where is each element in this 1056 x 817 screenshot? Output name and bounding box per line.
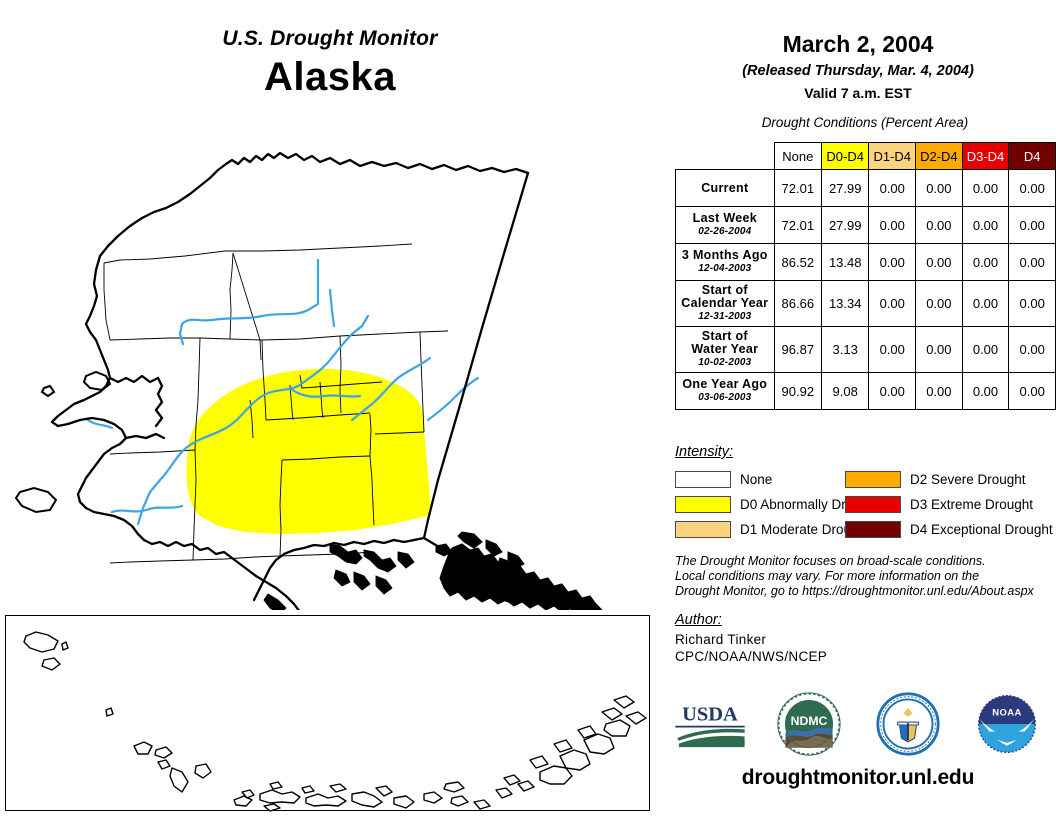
row-label-date: 12-31-2003 — [678, 310, 772, 323]
table-row: Start ofWater Year10-02-200396.873.130.0… — [676, 327, 1056, 373]
table-cell: 0.00 — [869, 170, 916, 207]
aleutian-map-svg — [6, 616, 651, 812]
table-cell: 0.00 — [869, 244, 916, 281]
table-cell: 0.00 — [916, 373, 963, 410]
table-caption: Drought Conditions (Percent Area) — [674, 115, 1056, 130]
disclaimer-line-2: Local conditions may vary. For more info… — [675, 569, 1055, 584]
row-label-date: 12-04-2003 — [678, 262, 772, 275]
ndmc-logo-svg: NDMC — [776, 691, 842, 757]
table-cell: 0.00 — [962, 281, 1009, 327]
row-label-date: 10-02-2003 — [678, 356, 772, 369]
noaa-logo: NOAA — [967, 688, 1047, 760]
row-label-text: Current — [678, 182, 772, 195]
table-row: One Year Ago03-06-200390.929.080.000.000… — [676, 373, 1056, 410]
disclaimer-line-3: Drought Monitor, go to https://droughtmo… — [675, 584, 1055, 599]
row-label-text: Water Year — [678, 343, 772, 356]
legend-item: D3 Extreme Drought — [845, 492, 1053, 517]
map-panel: U.S. Drought Monitor Alaska — [0, 0, 660, 816]
table-cell: 0.00 — [1009, 373, 1056, 410]
usda-logo-svg: USDA — [670, 697, 750, 751]
table-col-header-d2-d4: D2-D4 — [916, 143, 963, 170]
table-row: Start ofCalendar Year12-31-200386.6613.3… — [676, 281, 1056, 327]
alexander-archipelago — [436, 532, 602, 610]
row-label: One Year Ago03-06-2003 — [676, 373, 775, 410]
southern-islands — [130, 544, 414, 610]
drought-area-d0 — [186, 369, 431, 534]
table-cell: 0.00 — [962, 207, 1009, 244]
table-cell: 86.52 — [774, 244, 821, 281]
inset-map-svg-wrap — [6, 616, 649, 810]
intensity-heading: Intensity: — [675, 444, 1050, 460]
legend-swatch — [675, 471, 731, 488]
row-label: Current — [676, 170, 775, 207]
valid-time: Valid 7 a.m. EST — [660, 83, 1056, 103]
map-title-block: U.S. Drought Monitor Alaska — [0, 26, 660, 100]
table-body: Current72.0127.990.000.000.000.00Last We… — [676, 170, 1056, 410]
table-cell: 72.01 — [774, 207, 821, 244]
table-col-header-d4: D4 — [1009, 143, 1056, 170]
site-url[interactable]: droughtmonitor.unl.edu — [660, 766, 1056, 790]
table-row: 3 Months Ago12-04-200386.5213.480.000.00… — [676, 244, 1056, 281]
disclaimer-text: The Drought Monitor focuses on broad-sca… — [675, 554, 1055, 599]
table-row: Last Week02-26-200472.0127.990.000.000.0… — [676, 207, 1056, 244]
release-date: (Released Thursday, Mar. 4, 2004) — [660, 61, 1056, 81]
table-cell: 0.00 — [869, 327, 916, 373]
table-cell: 0.00 — [916, 207, 963, 244]
legend-swatch — [845, 521, 901, 538]
svg-text:NDMC: NDMC — [790, 714, 827, 728]
table-cell: 3.13 — [822, 327, 869, 373]
disclaimer-line-1: The Drought Monitor focuses on broad-sca… — [675, 554, 1055, 569]
intensity-legend-grid: NoneD2 Severe DroughtD0 Abnormally DryD3… — [675, 467, 1050, 542]
row-label-text: One Year Ago — [678, 378, 772, 391]
svg-text:NOAA: NOAA — [992, 707, 1022, 718]
legend-swatch — [675, 496, 731, 513]
usdc-seal-logo — [868, 688, 948, 760]
legend-swatch — [845, 496, 901, 513]
table-cell: 0.00 — [916, 244, 963, 281]
row-label: Start ofCalendar Year12-31-2003 — [676, 281, 775, 327]
table-row: Current72.0127.990.000.000.000.00 — [676, 170, 1056, 207]
author-heading: Author: — [675, 612, 827, 628]
table-col-header-d1-d4: D1-D4 — [869, 143, 916, 170]
ndmc-logo: NDMC — [769, 688, 849, 760]
table-cell: 0.00 — [1009, 244, 1056, 281]
row-label-text: 3 Months Ago — [678, 249, 772, 262]
table-cell: 0.00 — [962, 170, 1009, 207]
table-cell: 0.00 — [962, 327, 1009, 373]
author-block: Author: Richard Tinker CPC/NOAA/NWS/NCEP — [675, 612, 827, 665]
row-label: Start ofWater Year10-02-2003 — [676, 327, 775, 373]
table-cell: 0.00 — [869, 281, 916, 327]
partner-logos: USDA NDMC — [660, 688, 1056, 760]
table-cell: 72.01 — [774, 170, 821, 207]
usdc-seal-svg — [875, 691, 941, 757]
table-cell: 0.00 — [916, 170, 963, 207]
legend-item: D1 Moderate Drought — [675, 517, 845, 542]
info-panel: March 2, 2004 (Released Thursday, Mar. 4… — [660, 0, 1056, 816]
row-label: Last Week02-26-2004 — [676, 207, 775, 244]
legend-item: None — [675, 467, 845, 492]
table-col-header-none: None — [774, 143, 821, 170]
legend-label: None — [740, 472, 772, 487]
legend-label: D2 Severe Drought — [910, 472, 1026, 487]
table-cell: 0.00 — [1009, 327, 1056, 373]
region-title: Alaska — [0, 54, 660, 100]
intensity-legend: Intensity: NoneD2 Severe DroughtD0 Abnor… — [675, 444, 1050, 542]
legend-item: D0 Abnormally Dry — [675, 492, 845, 517]
table-col-header-d3-d4: D3-D4 — [962, 143, 1009, 170]
table-cell: 0.00 — [1009, 170, 1056, 207]
row-label-text: Last Week — [678, 212, 772, 225]
legend-label: D0 Abnormally Dry — [740, 497, 853, 512]
table-cell: 0.00 — [962, 244, 1009, 281]
headline-date: March 2, 2004 — [660, 30, 1056, 58]
table-header-row: NoneD0-D4D1-D4D2-D4D3-D4D4 — [676, 143, 1056, 170]
row-label-date: 03-06-2003 — [678, 391, 772, 404]
author-name: Richard Tinker — [675, 631, 827, 648]
row-label: 3 Months Ago12-04-2003 — [676, 244, 775, 281]
table-cell: 9.08 — [822, 373, 869, 410]
table-cell: 27.99 — [822, 170, 869, 207]
page-title: U.S. Drought Monitor — [0, 26, 660, 52]
noaa-logo-svg: NOAA — [974, 691, 1040, 757]
legend-swatch — [845, 471, 901, 488]
row-label-text: Calendar Year — [678, 297, 772, 310]
legend-label: D4 Exceptional Drought — [910, 522, 1053, 537]
table-cell: 0.00 — [869, 373, 916, 410]
legend-item: D4 Exceptional Drought — [845, 517, 1053, 542]
table-cell: 0.00 — [869, 207, 916, 244]
table-cell: 0.00 — [916, 327, 963, 373]
table-col-header-d0-d4: D0-D4 — [822, 143, 869, 170]
row-label-date: 02-26-2004 — [678, 225, 772, 238]
drought-conditions-table: NoneD0-D4D1-D4D2-D4D3-D4D4 Current72.012… — [675, 142, 1056, 410]
legend-swatch — [675, 521, 731, 538]
alaska-main-map[interactable] — [0, 120, 660, 610]
table-cell: 96.87 — [774, 327, 821, 373]
alaska-map-svg — [0, 120, 660, 610]
usda-logo: USDA — [670, 688, 750, 760]
table-cell: 90.92 — [774, 373, 821, 410]
table-cell: 13.48 — [822, 244, 869, 281]
legend-label: D3 Extreme Drought — [910, 497, 1033, 512]
legend-item: D2 Severe Drought — [845, 467, 1053, 492]
table-cell: 0.00 — [916, 281, 963, 327]
table-cell: 0.00 — [1009, 207, 1056, 244]
table-cell: 27.99 — [822, 207, 869, 244]
author-affiliation: CPC/NOAA/NWS/NCEP — [675, 648, 827, 665]
table-cell: 86.66 — [774, 281, 821, 327]
table-cell: 13.34 — [822, 281, 869, 327]
aleutian-islands-inset[interactable] — [5, 615, 650, 811]
date-header: March 2, 2004 (Released Thursday, Mar. 4… — [660, 0, 1056, 103]
table-cell: 0.00 — [1009, 281, 1056, 327]
table-cell: 0.00 — [962, 373, 1009, 410]
svg-text:USDA: USDA — [682, 703, 738, 725]
table-corner-cell — [676, 143, 775, 170]
